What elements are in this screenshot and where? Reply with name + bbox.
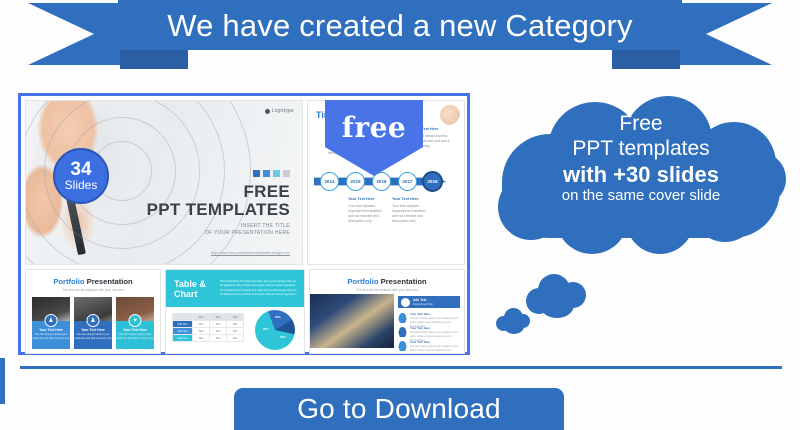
cover-subtitle-line2: OF YOUR PRESENTATION HERE xyxy=(205,230,290,237)
ribbon-fold-right xyxy=(612,47,680,69)
leaf-icon xyxy=(398,312,407,323)
cover-dot-row xyxy=(253,170,290,177)
ribbon-fold-left xyxy=(120,47,188,69)
cloud-text: Free PPT templates with +30 slides on th… xyxy=(496,112,786,205)
pie-chart: 50% 20% 70% xyxy=(255,310,295,350)
portfolio-card-badge: ♟ xyxy=(45,314,58,327)
logotype-mark xyxy=(265,109,270,114)
header-ribbon: We have created a new Category xyxy=(0,0,800,72)
page-root: We have created a new Category Logotype xyxy=(0,0,800,430)
banner-title: We have created a new Category xyxy=(167,10,633,41)
cover-subtitle: INSERT THE TITLE OF YOUR PRESENTATION HE… xyxy=(205,223,290,238)
data-table: Text Text Text Add Text Text Text Text A… xyxy=(172,313,244,342)
surgery-photo xyxy=(310,294,394,348)
table-row: Add Text Text Text Text xyxy=(173,321,244,328)
portfolio-card-band: ♥ Your Text Here You can simply impress … xyxy=(116,321,154,349)
lungs-icon xyxy=(398,340,407,351)
timeline-caption: Your Text HereYour text replaces. Import… xyxy=(392,197,432,224)
cloud-line-1: Free xyxy=(496,112,786,137)
portfolio-card[interactable]: ♥ Your Text Here You can simply impress … xyxy=(116,297,154,349)
table-row: Add Text Text Text Text xyxy=(173,335,244,342)
cover-url: http://www.free-powerpoint-templates-des… xyxy=(211,251,290,255)
table-chart-title: Table & Chart xyxy=(174,279,206,300)
slide-portfolio-left[interactable]: Portfolio Presentation The text can be r… xyxy=(25,269,161,354)
chip-text: Add Textsimple PowerPoint xyxy=(413,298,433,305)
timeline-corner-photo xyxy=(440,105,460,125)
portfolio-left-card-list: ♟ Your Text Here You can simply impress … xyxy=(26,297,160,349)
portfolio-card[interactable]: ♟ Your Text Here You can simply impress … xyxy=(74,297,112,349)
portfolio-card-badge: ♥ xyxy=(129,314,142,327)
go-to-download-button[interactable]: Go to Download xyxy=(234,388,564,430)
table-header-row: Text Text Text xyxy=(173,314,244,321)
slides-count-label: Slides xyxy=(65,179,98,192)
table-chart-body: The PowerPoint Template has clean and ne… xyxy=(220,280,298,297)
portfolio-right-subtitle: The text can be replaced with your own t… xyxy=(310,288,464,292)
cover-subtitle-line1: INSERT THE TITLE xyxy=(205,223,290,230)
cloud-line-4: on the same cover slide xyxy=(496,187,786,205)
timeline-node[interactable]: 2014 xyxy=(320,172,339,191)
footer-divider xyxy=(20,366,782,369)
cloud-line-2: PPT templates xyxy=(496,137,786,162)
cover-title-line1: FREE xyxy=(147,183,290,201)
slides-count-number: 34 xyxy=(70,160,91,179)
chip-icon xyxy=(401,298,410,307)
slides-count-badge: 34 Slides xyxy=(53,148,109,204)
timeline-node[interactable]: 2017 xyxy=(398,172,417,191)
cloud-line-3: with +30 slides xyxy=(496,162,786,188)
portfolio-card-badge: ♟ xyxy=(87,314,100,327)
table-chart-panel: Text Text Text Add Text Text Text Text A… xyxy=(166,307,304,353)
table-row: Add Text Text Text Text xyxy=(173,328,244,335)
timeline-node[interactable]: 2015 xyxy=(346,172,365,191)
slide-portfolio-right[interactable]: Portfolio Presentation The text can be r… xyxy=(309,269,465,354)
pie-label: 20% xyxy=(263,327,269,331)
cloud-callout: Free PPT templates with +30 slides on th… xyxy=(496,96,796,341)
slide-table-chart[interactable]: Table & Chart The PowerPoint Template ha… xyxy=(165,269,305,354)
logotype: Logotype xyxy=(265,108,294,114)
hand-icon xyxy=(398,326,407,337)
pie-label: 70% xyxy=(280,335,286,339)
portfolio-right-title: Portfolio Presentation xyxy=(310,277,464,286)
portfolio-right-chip: Add Textsimple PowerPoint xyxy=(398,296,460,308)
cta-label: Go to Download xyxy=(297,393,501,425)
portfolio-card[interactable]: ♟ Your Text Here You can simply impress … xyxy=(32,297,70,349)
logotype-label: Logotype xyxy=(272,108,294,114)
portfolio-card-band: ♟ Your Text Here You can simply impress … xyxy=(74,321,112,349)
cloud-big: Free PPT templates with +30 slides on th… xyxy=(496,96,786,256)
portfolio-right-item: Your Text HereYou can simply impress you… xyxy=(398,340,462,354)
cloud-tiny xyxy=(496,308,530,334)
free-badge-label: free xyxy=(342,111,406,144)
portfolio-card-band: ♟ Your Text Here You can simply impress … xyxy=(32,321,70,349)
footer-left-bar xyxy=(0,358,5,404)
portfolio-left-subtitle: The text can be replaced with your own t… xyxy=(26,288,160,292)
cloud-small xyxy=(526,274,588,318)
cover-title: FREE PPT TEMPLATES xyxy=(147,183,290,219)
portfolio-left-title: Portfolio Presentation xyxy=(26,277,160,286)
ribbon-banner: We have created a new Category xyxy=(118,0,682,50)
timeline-caption: Your Text HereYour text replaces. Import… xyxy=(348,197,388,224)
cover-title-line2: PPT TEMPLATES xyxy=(147,201,290,219)
timeline-node-active[interactable]: 2018 xyxy=(422,171,443,192)
pie-label: 50% xyxy=(275,315,281,319)
